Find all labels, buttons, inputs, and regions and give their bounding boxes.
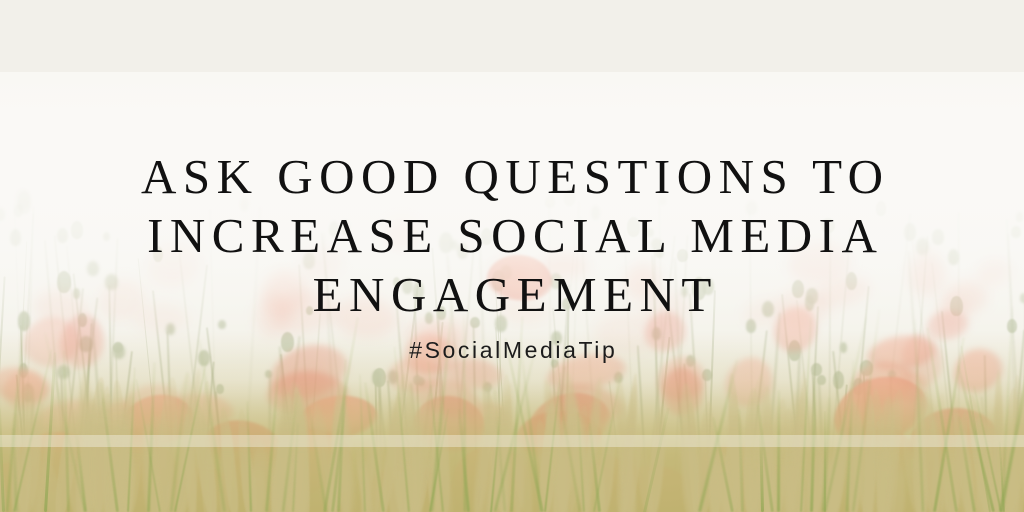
- wheat-ear: [411, 394, 424, 512]
- wheat-detail-layer: [0, 0, 1024, 512]
- grass-blade: [777, 390, 780, 512]
- wheat-ear: [888, 452, 905, 512]
- graphic-canvas: ASK GOOD QUESTIONS TO INCREASE SOCIAL ME…: [0, 0, 1024, 512]
- grass-blade: [0, 408, 4, 512]
